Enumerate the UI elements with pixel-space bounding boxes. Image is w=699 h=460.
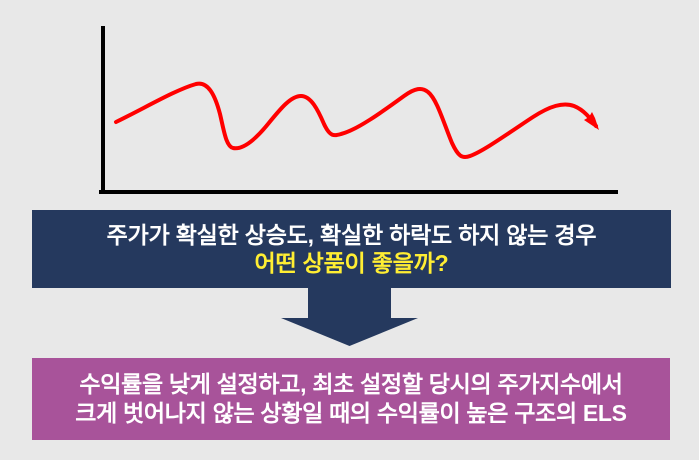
chart-svg [0,0,699,205]
question-callout: 주가가 확실한 상승도, 확실한 하락도 하지 않는 경우 어떤 상품이 좋을까… [32,210,671,288]
sideways-stock-price-chart [0,0,699,205]
down-arrow [281,286,418,348]
question-line-2-highlight: 어떤 상품이 좋을까? [255,249,449,277]
slide-canvas: 주가가 확실한 상승도, 확실한 하락도 하지 않는 경우 어떤 상품이 좋을까… [0,0,699,460]
question-line-1: 주가가 확실한 상승도, 확실한 하락도 하지 않는 경우 [107,221,597,249]
answer-line-2: 크게 벗어나지 않는 상황일 때의 수익률이 높은 구조의 ELS [75,399,626,428]
price-line-series [116,84,596,157]
answer-callout: 수익률을 낮게 설정하고, 최초 설정할 당시의 주가지수에서 크게 벗어나지 … [32,358,670,440]
down-arrow-shape [281,286,418,346]
down-arrow-icon [281,286,418,348]
answer-line-1: 수익률을 낮게 설정하고, 최초 설정할 당시의 주가지수에서 [79,370,622,399]
